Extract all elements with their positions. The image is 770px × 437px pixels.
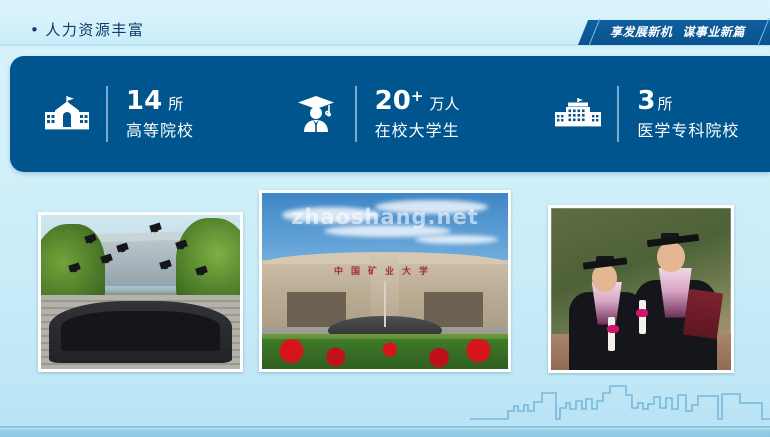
slogan-ribbon: 享发展新机谋事业新篇: [570, 20, 770, 45]
graduation-cap-toss-photo[interactable]: [38, 212, 243, 372]
stat-item-higher-education: 14 所 高等院校: [10, 56, 259, 172]
diploma-ribbon: [607, 325, 619, 333]
stat-divider: [617, 86, 619, 142]
diploma-folder: [683, 289, 723, 339]
stat-number: 3: [637, 87, 655, 117]
stat-unit: 所: [168, 96, 183, 113]
school-building-icon: [44, 91, 90, 137]
stat-value-row: 3 所: [637, 87, 739, 117]
bottom-divider: [0, 426, 770, 428]
photo-flowerbed: [262, 339, 508, 369]
stat-text: 3 所 医学专科院校: [637, 87, 739, 140]
stat-unit: 万人: [429, 96, 459, 113]
stat-value-row: 14 所: [126, 87, 194, 117]
photo-inner: 中国矿业大学 zhaoshang.net: [262, 193, 508, 369]
stat-item-medical-colleges: 3 所 医学专科院校: [507, 56, 770, 172]
photo-watermark: zhaoshang.net: [269, 205, 500, 229]
graduate-male: [634, 224, 717, 370]
ribbon-text-part2: 谋事业新篇: [682, 25, 748, 39]
stat-label: 在校大学生: [375, 122, 460, 140]
stat-text: 20 + 万人 在校大学生: [375, 87, 460, 140]
city-skyline-outline: [470, 381, 770, 423]
ribbon-text-part1: 享发展新机: [609, 25, 675, 39]
slide-root: •人力资源丰富 享发展新机谋事业新篇: [0, 0, 770, 437]
face: [657, 242, 685, 273]
stat-divider: [355, 86, 357, 142]
photo-flagpole: [384, 281, 386, 327]
stat-superscript: +: [411, 88, 424, 105]
stat-divider: [106, 86, 108, 142]
stat-value-row: 20 + 万人: [375, 87, 460, 117]
stat-unit: 所: [657, 96, 672, 113]
diploma-scroll: [608, 317, 615, 351]
photo-cloud: [415, 235, 499, 244]
ribbon-text: 享发展新机谋事业新篇: [609, 23, 748, 40]
two-graduates-photo[interactable]: [548, 205, 734, 373]
bottom-bar: [0, 429, 770, 437]
photo-inner: [551, 208, 731, 370]
hospital-building-icon: [555, 91, 601, 137]
page-title-text: 人力资源丰富: [45, 21, 144, 39]
diploma-scroll: [639, 300, 646, 334]
stat-label: 医学专科院校: [637, 122, 739, 140]
photo-gate-sign: 中国矿业大学: [301, 264, 468, 277]
university-gate-photo[interactable]: 中国矿业大学 zhaoshang.net: [259, 190, 511, 372]
stat-item-college-students: 20 + 万人 在校大学生: [259, 56, 508, 172]
graduate-person-icon: [293, 91, 339, 137]
bullet-icon: •: [30, 21, 40, 39]
photo-gate-arch: [424, 292, 483, 327]
stat-number: 20: [375, 87, 411, 117]
stat-text: 14 所 高等院校: [126, 87, 194, 140]
photo-inner: [41, 215, 240, 369]
photo-crowd-front: [61, 311, 220, 351]
statistics-banner: 14 所 高等院校: [10, 56, 770, 172]
page-title: •人力资源丰富: [30, 19, 144, 40]
stat-label: 高等院校: [126, 122, 194, 140]
stat-number: 14: [126, 87, 162, 117]
diploma-ribbon: [636, 309, 648, 317]
